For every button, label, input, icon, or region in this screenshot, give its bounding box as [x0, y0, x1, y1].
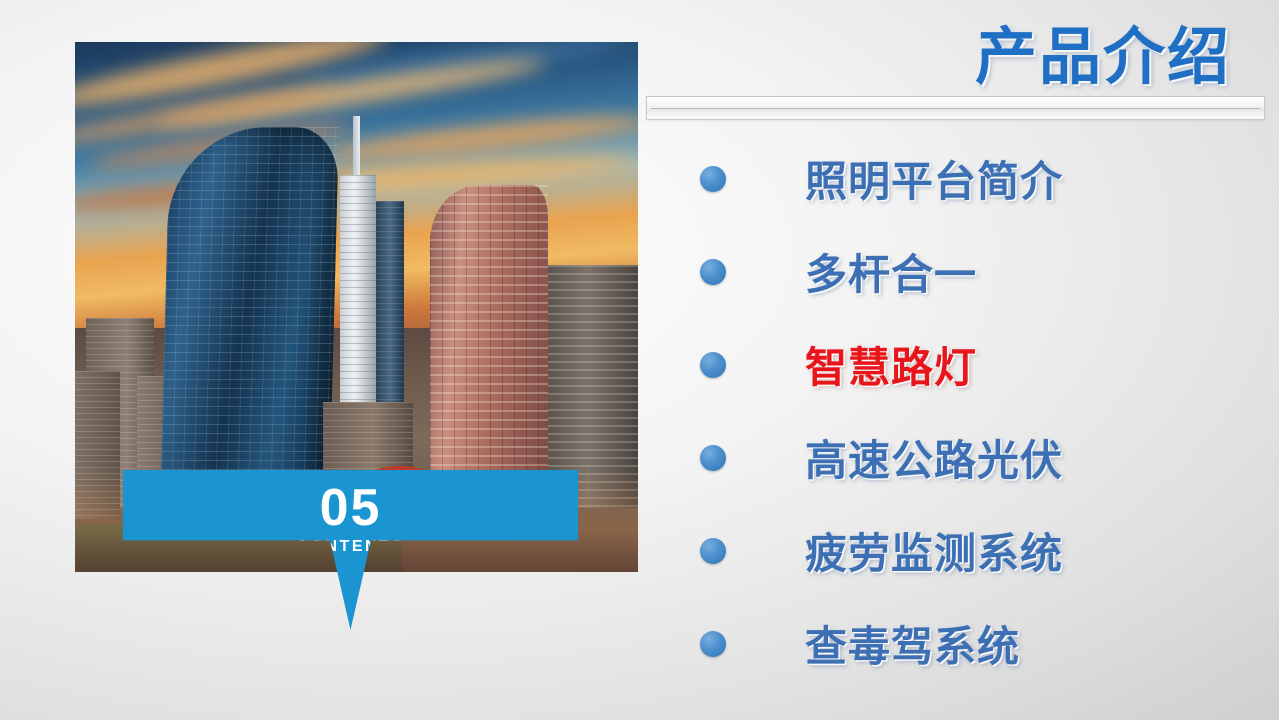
list-item[interactable]: 疲劳监测系统: [700, 504, 1260, 597]
bullet-icon: [700, 538, 726, 564]
bullet-icon: [700, 352, 726, 378]
presentation-slide: 05 CONTENTS 产品介绍 照明平台简介 多杆合一 智慧路灯 高速公路光伏: [0, 0, 1279, 720]
list-item-label: 多杆合一: [805, 241, 977, 302]
list-item-label: 高速公路光伏: [805, 427, 1063, 488]
list-item-label: 疲劳监测系统: [805, 520, 1063, 581]
list-item-label: 查毒驾系统: [805, 613, 1020, 674]
page-title: 产品介绍: [975, 6, 1231, 96]
bullet-icon: [700, 445, 726, 471]
contents-list: 照明平台简介 多杆合一 智慧路灯 高速公路光伏 疲劳监测系统 查毒驾系统: [700, 132, 1260, 690]
list-item[interactable]: 多杆合一: [700, 225, 1260, 318]
building-tower: [430, 185, 548, 503]
divider-bar: [646, 96, 1265, 120]
list-item[interactable]: 照明平台简介: [700, 132, 1260, 225]
list-item[interactable]: 智慧路灯: [700, 318, 1260, 411]
section-number: 05: [123, 478, 578, 538]
bullet-icon: [700, 166, 726, 192]
building-glass-tower: [160, 127, 339, 509]
bullet-icon: [700, 631, 726, 657]
list-item-label-active: 智慧路灯: [805, 334, 977, 395]
building-spire: [353, 116, 360, 180]
list-item[interactable]: 高速公路光伏: [700, 411, 1260, 504]
list-item[interactable]: 查毒驾系统: [700, 597, 1260, 690]
bullet-icon: [700, 259, 726, 285]
list-item-label: 照明平台简介: [805, 148, 1063, 209]
